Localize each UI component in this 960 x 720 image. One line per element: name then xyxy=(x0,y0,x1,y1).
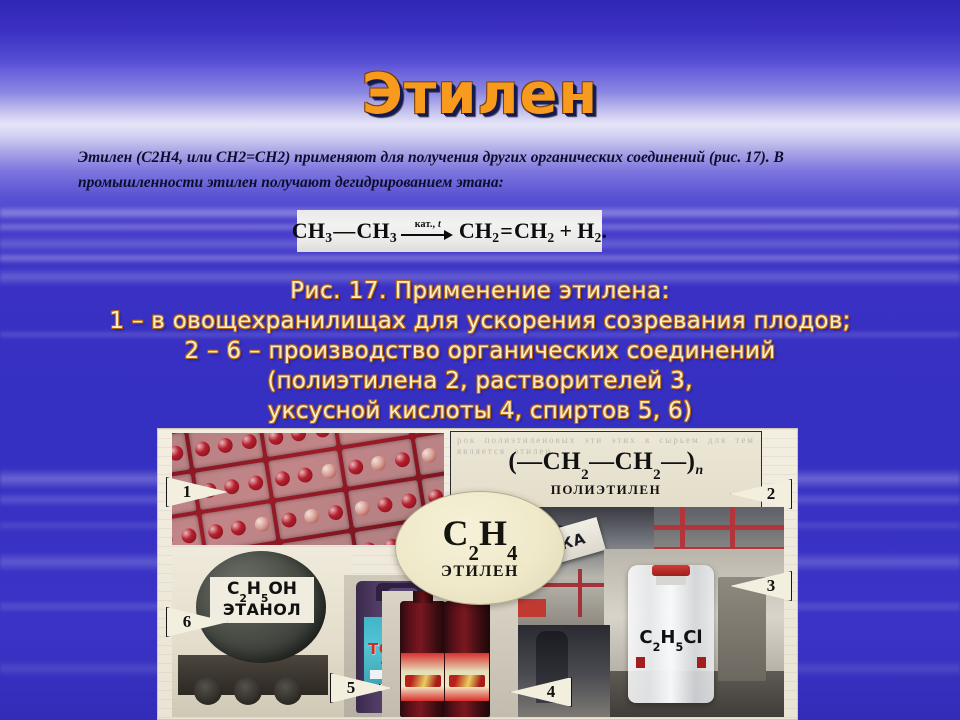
intro-paragraph: Этилен (C2H4, или CH2=CH2) применяют для… xyxy=(78,145,884,195)
figure-17-collage-image: рок полиэтиленовых эти этих в сырьем для… xyxy=(157,428,798,720)
marker-flag-5: 5 xyxy=(330,673,392,703)
tomato xyxy=(370,454,387,471)
marker-flag-1: 1 xyxy=(166,477,228,507)
caption-line-4: (полиэтилена 2, растворителей 3, xyxy=(0,366,960,396)
bottle-body: C2H5Cl xyxy=(628,565,714,703)
caption-line-3: 2 – 6 – производство органических соедин… xyxy=(0,336,960,366)
tomato xyxy=(172,444,184,461)
tomato-crate xyxy=(201,503,276,545)
rail-decoration-3 xyxy=(578,569,582,617)
tomato xyxy=(281,511,298,528)
bottle-label xyxy=(401,653,445,701)
tomato xyxy=(172,530,174,545)
tomato xyxy=(314,433,331,438)
tanker-wheel-mid xyxy=(234,677,262,705)
tomato xyxy=(297,466,314,483)
red-marking-right xyxy=(697,657,706,668)
bottle-cap-red xyxy=(652,565,690,576)
marker-number: 3 xyxy=(730,576,792,596)
ethanol-formula: C2H5OH xyxy=(227,581,297,601)
tomato xyxy=(274,470,291,487)
tomato xyxy=(341,433,358,434)
tomato xyxy=(194,440,211,457)
tomato-crate xyxy=(172,515,203,545)
tomato xyxy=(360,541,377,545)
tomato xyxy=(180,527,197,544)
tomato xyxy=(291,433,308,441)
eq-reaction-arrow: кат., t xyxy=(401,220,455,241)
tomato xyxy=(217,436,234,453)
ethylene-formula: C2H4 xyxy=(443,515,518,557)
tomato xyxy=(354,499,371,516)
ethylene-center-callout: C2H4 ЭТИЛЕН xyxy=(395,491,565,605)
tomato xyxy=(320,462,337,479)
marker-flag-6: 6 xyxy=(166,607,228,637)
red-marking-left xyxy=(636,657,645,668)
tomato xyxy=(394,451,411,468)
eq-right-2: CH2 xyxy=(514,218,554,244)
tomato xyxy=(327,504,344,521)
eq-left-2: CH3 xyxy=(356,218,396,244)
tanker-wheel-left xyxy=(194,677,222,705)
tomato-crate xyxy=(415,433,444,475)
marker-number: 6 xyxy=(166,612,228,632)
tomato xyxy=(240,433,257,449)
tomato xyxy=(253,515,270,532)
eq-left-1: CH3 xyxy=(292,218,332,244)
chloroethane-formula: C2H5Cl xyxy=(628,627,714,651)
chemical-equation-image: CH3 — CH3 кат., t CH2 = CH2 + H2. xyxy=(297,210,602,252)
tomato xyxy=(268,433,285,445)
tomato xyxy=(230,519,247,536)
eq-right-1: CH2 xyxy=(459,218,499,244)
photo-vinegar-bottles xyxy=(382,591,518,717)
bottle-label xyxy=(445,653,489,701)
presentation-slide: Этилен Этилен (C2H4, или CH2=CH2) примен… xyxy=(0,0,960,720)
tomato xyxy=(400,492,417,509)
figure-caption: Рис. 17. Применение этилена: 1 – в овоще… xyxy=(0,276,960,426)
marker-number: 5 xyxy=(330,678,392,698)
tanker-wheel-right xyxy=(274,677,302,705)
tomato-crate xyxy=(275,492,350,540)
dehydrogenation-equation: CH3 — CH3 кат., t CH2 = CH2 + H2. xyxy=(292,218,607,244)
ethylene-label: ЭТИЛЕН xyxy=(441,563,519,581)
marker-number: 1 xyxy=(166,482,228,502)
tomato xyxy=(421,446,438,463)
tomato xyxy=(377,496,394,513)
eq-single-bond: — xyxy=(332,218,356,244)
page-title: Этилен xyxy=(0,62,960,127)
caption-line-5: уксусной кислоты 4, спиртов 5, 6) xyxy=(0,396,960,426)
eq-double-bond: = xyxy=(499,218,514,244)
tomato xyxy=(304,507,321,524)
tomato xyxy=(207,522,224,539)
tomato xyxy=(247,474,264,491)
polyethylene-formula: (—CH2—CH2—)n xyxy=(451,448,761,480)
tomato-crate xyxy=(268,450,343,498)
eq-plus: + xyxy=(554,218,577,244)
vinegar-bottle-right xyxy=(444,601,490,717)
eq-right-3: H2. xyxy=(577,218,607,244)
arrow-right-icon xyxy=(401,229,455,241)
pipe-h-1 xyxy=(654,525,784,530)
caption-line-1: Рис. 17. Применение этилена: xyxy=(0,276,960,306)
marker-flag-4: 4 xyxy=(510,677,572,707)
tomato-crate xyxy=(341,439,416,487)
vinegar-bottle-left xyxy=(400,601,446,717)
marker-number: 2 xyxy=(730,484,792,504)
marker-flag-3: 3 xyxy=(730,571,792,601)
caption-line-2: 1 – в овощехранилищах для ускорения созр… xyxy=(0,306,960,336)
marker-flag-2: 2 xyxy=(730,479,792,509)
tomato xyxy=(347,458,364,475)
marker-number: 4 xyxy=(510,682,572,702)
